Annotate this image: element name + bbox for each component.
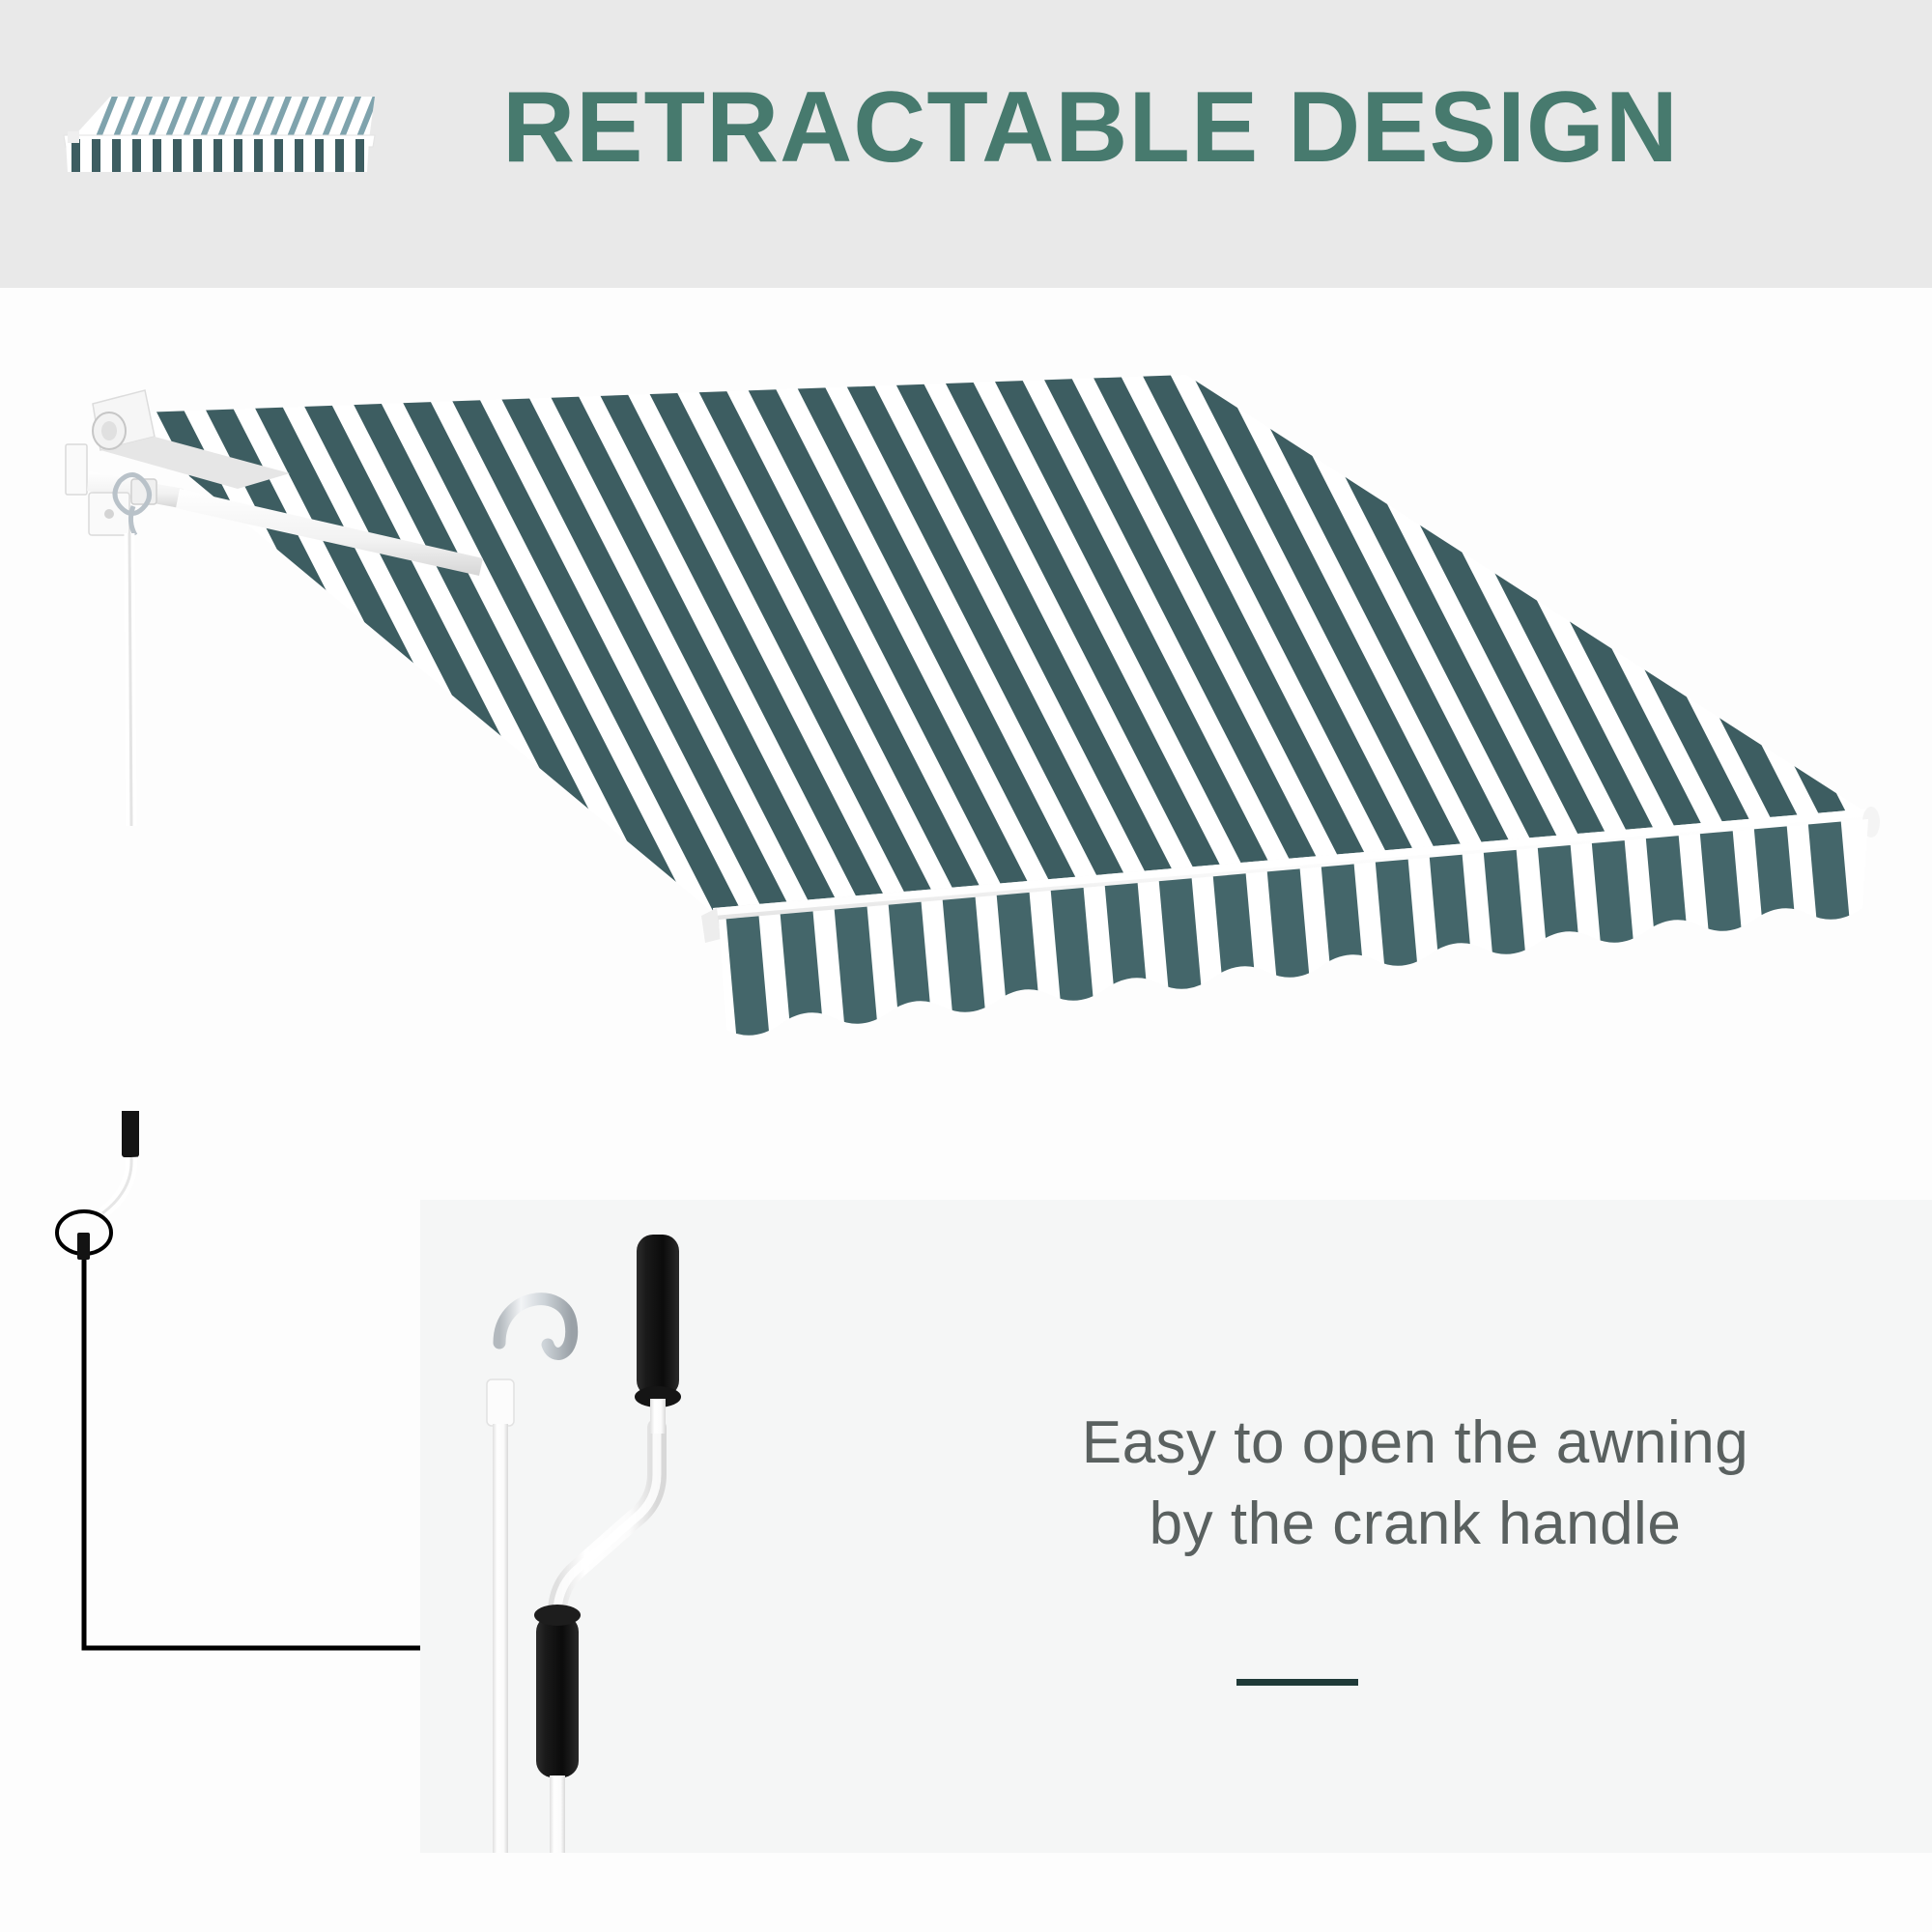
crank-top-grip <box>637 1235 679 1397</box>
awning-product-illustration <box>0 290 1932 1159</box>
crank-handle-illustration <box>420 1200 961 1853</box>
caption-line-1: Easy to open the awning <box>923 1403 1908 1484</box>
page-title: RETRACTABLE DESIGN <box>502 73 1855 182</box>
caption-line-2: by the crank handle <box>923 1484 1908 1565</box>
crank-handle-inset-panel: Easy to open the awning by the crank han… <box>420 1200 1932 1853</box>
caption-block: Easy to open the awning by the crank han… <box>923 1403 1908 1565</box>
crank-rod-callout-circle <box>57 1211 111 1254</box>
header-band: RETRACTABLE DESIGN <box>0 0 1932 288</box>
awning-thumbnail-icon <box>50 79 379 185</box>
caption-accent-rule <box>1236 1679 1358 1686</box>
callout-leader-line <box>84 1260 422 1648</box>
crank-bottom-grip <box>536 1615 579 1777</box>
crank-handle <box>534 1235 681 1853</box>
product-feature-image: RETRACTABLE DESIGN <box>0 0 1932 1932</box>
crank-rod <box>129 533 131 826</box>
